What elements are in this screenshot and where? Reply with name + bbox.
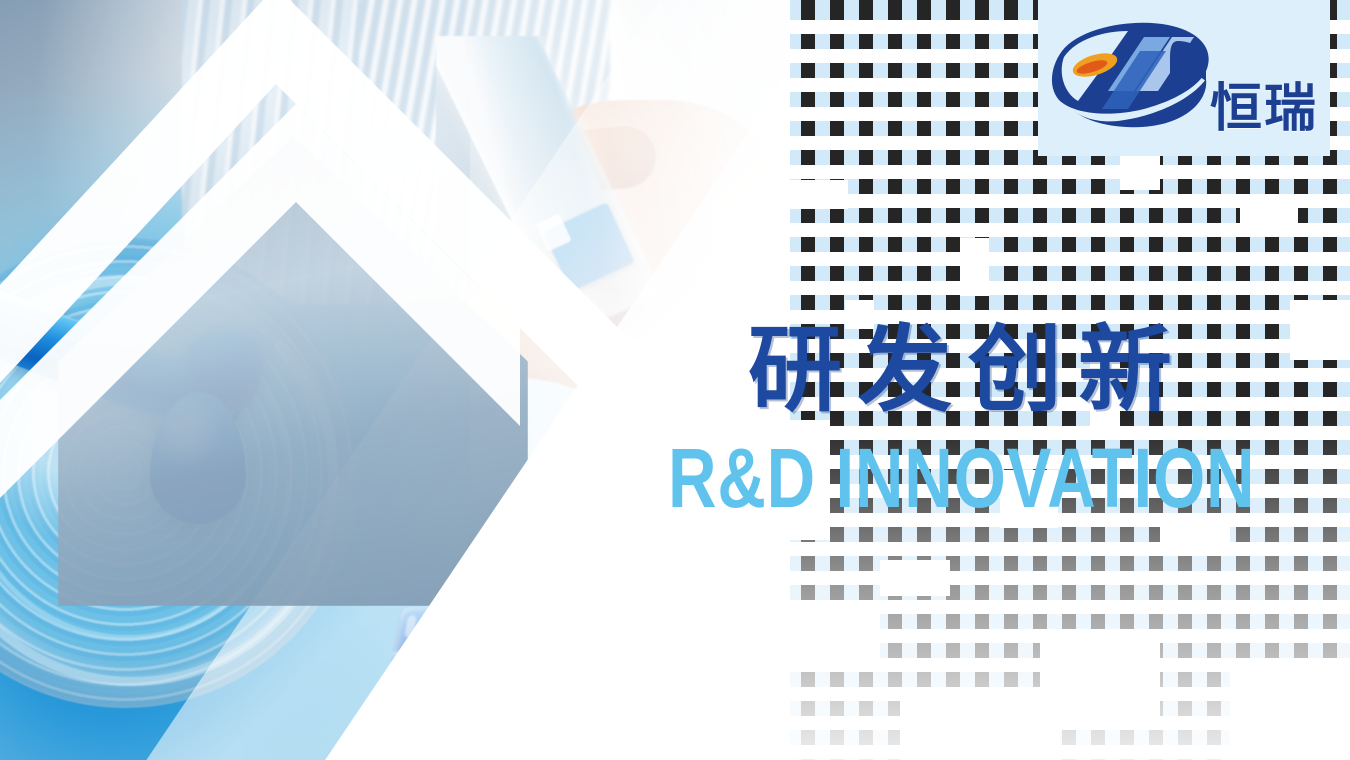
laboratory-photo-collage <box>0 0 790 760</box>
hengrui-logo-panel[interactable]: 恒瑞 <box>1038 0 1330 156</box>
blue-vial-array <box>371 540 713 760</box>
hengrui-swoosh-mark <box>1048 17 1216 139</box>
rd-innovation-banner: 恒瑞 研发创新 R&D INNOVATION <box>0 0 1350 760</box>
company-name-cn: 恒瑞 <box>1210 83 1318 135</box>
hand-test-tube-scene <box>436 36 790 416</box>
headline-title-cn: 研发创新 <box>748 324 1348 418</box>
headline-title-en: R&D INNOVATION <box>668 436 1212 520</box>
headline-block: 研发创新 R&D INNOVATION <box>748 324 1348 520</box>
